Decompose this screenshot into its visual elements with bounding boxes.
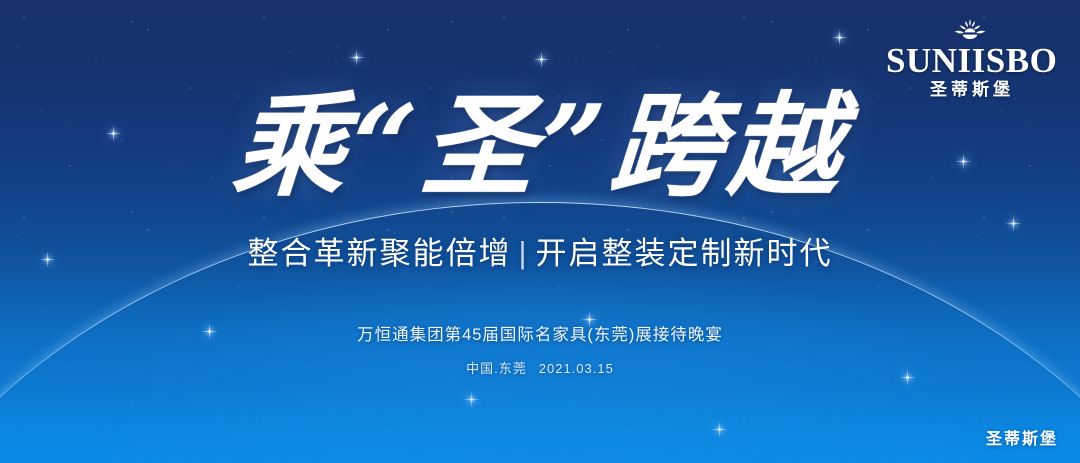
- event-meta: 中国.东莞2021.03.15: [0, 358, 1080, 377]
- sparkle-star: [470, 398, 473, 401]
- subtitle-left-text: 整合革新聚能倍增: [247, 236, 511, 271]
- sparkle-star: [838, 36, 841, 39]
- event-location: 中国.东莞: [466, 361, 527, 376]
- sparkle-star: [718, 428, 721, 431]
- subtitle-divider: |: [518, 235, 528, 271]
- event-name: 万恒通集团第45届国际名家具(东莞)展接待晚宴: [0, 321, 1080, 345]
- sparkle-star: [355, 56, 358, 59]
- promotional-banner: SUNIISBO 圣蒂斯堡 乘“圣”跨越 整合革新聚能倍增|开启整装定制新时代 …: [0, 0, 1080, 463]
- brand-logo: SUNIISBO 圣蒂斯堡: [886, 18, 1054, 98]
- watermark: 圣蒂斯堡: [986, 425, 1058, 449]
- subtitle: 整合革新聚能倍增|开启整装定制新时代: [0, 228, 1080, 273]
- event-date: 2021.03.15: [539, 361, 614, 376]
- content-stack: 乘“圣”跨越 整合革新聚能倍增|开启整装定制新时代 万恒通集团第45届国际名家具…: [0, 88, 1080, 377]
- logo-wordmark: SUNIISBO: [886, 43, 1054, 78]
- sparkle-star: [540, 58, 543, 61]
- subtitle-right-text: 开启整装定制新时代: [536, 236, 833, 271]
- headline: 乘“圣”跨越: [0, 88, 1080, 206]
- lotus-sunburst-icon: [886, 18, 1054, 42]
